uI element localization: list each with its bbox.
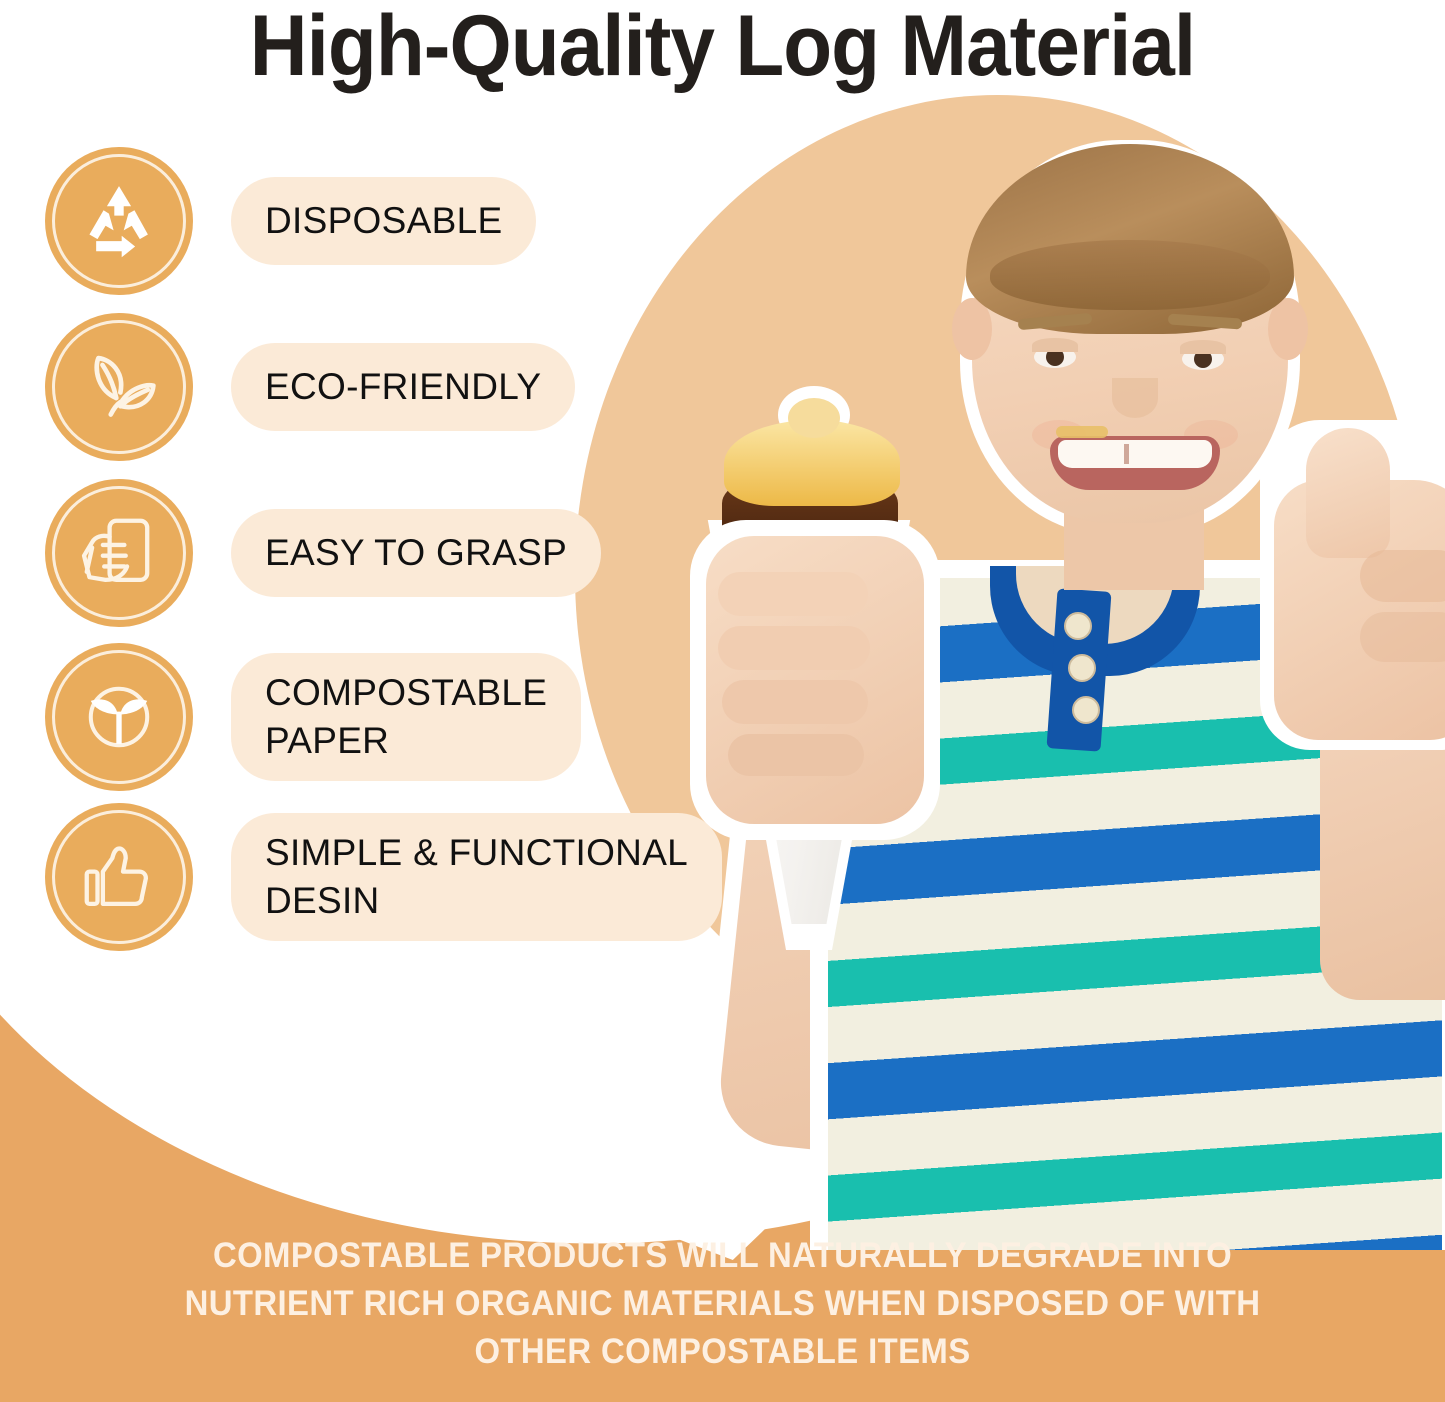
caption-line-1: COMPOSTABLE PRODUCTS WILL NATURALLY DEGR… — [43, 1232, 1401, 1280]
feature-label-compostable-paper: COMPOSTABLE PAPER — [231, 653, 581, 781]
sprout-icon — [76, 674, 162, 760]
feature-item-disposable: DISPOSABLE — [45, 152, 722, 290]
nose — [1112, 378, 1158, 418]
shirt-button — [1072, 696, 1100, 724]
badge-eco-friendly — [45, 313, 193, 461]
leaves-icon — [75, 343, 163, 431]
bottom-caption: COMPOSTABLE PRODUCTS WILL NATURALLY DEGR… — [43, 1232, 1401, 1376]
finger — [722, 680, 868, 724]
recycle-icon — [76, 178, 162, 264]
finger — [718, 572, 868, 616]
shirt-button — [1064, 612, 1092, 640]
hand-cup-icon — [76, 510, 162, 596]
food-crumb — [1056, 426, 1108, 438]
badge-compostable-paper — [45, 643, 193, 791]
product-infographic: High-Quality Log Material — [0, 0, 1445, 1402]
feature-item-easy-to-grasp: EASY TO GRASP — [45, 484, 722, 622]
feature-label-easy-to-grasp: EASY TO GRASP — [231, 509, 601, 597]
hair-fringe — [990, 240, 1270, 310]
feature-list: DISPOSABLE ECO-FRIENDLY — [45, 152, 722, 980]
eyelid-left — [1032, 338, 1078, 352]
caption-line-2: NUTRIENT RICH ORGANIC MATERIALS WHEN DIS… — [43, 1280, 1401, 1328]
boy-photo — [660, 120, 1440, 1235]
thumb — [1306, 428, 1390, 558]
feature-item-eco-friendly: ECO-FRIENDLY — [45, 318, 722, 456]
feature-item-simple-functional: SIMPLE & FUNCTIONAL DESIN — [45, 808, 722, 946]
knuckle — [1360, 612, 1445, 662]
ear-right — [1268, 298, 1308, 360]
shirt-button — [1068, 654, 1096, 682]
feature-item-compostable-paper: COMPOSTABLE PAPER — [45, 648, 722, 786]
badge-disposable — [45, 147, 193, 295]
caption-line-3: OTHER COMPOSTABLE ITEMS — [43, 1328, 1401, 1376]
finger — [718, 626, 870, 670]
teeth — [1058, 440, 1212, 468]
eyelid-right — [1180, 340, 1226, 354]
feature-label-eco-friendly: ECO-FRIENDLY — [231, 343, 575, 431]
mouth — [1050, 436, 1220, 490]
feature-label-disposable: DISPOSABLE — [231, 177, 536, 265]
finger — [728, 734, 864, 776]
cream-tip — [788, 398, 840, 438]
knuckle — [1360, 550, 1445, 602]
page-title: High-Quality Log Material — [51, 0, 1395, 96]
thumbs-up-icon — [76, 834, 162, 920]
badge-simple-functional — [45, 803, 193, 951]
feature-label-simple-functional: SIMPLE & FUNCTIONAL DESIN — [231, 813, 722, 941]
badge-easy-to-grasp — [45, 479, 193, 627]
tooth-gap — [1124, 444, 1129, 464]
